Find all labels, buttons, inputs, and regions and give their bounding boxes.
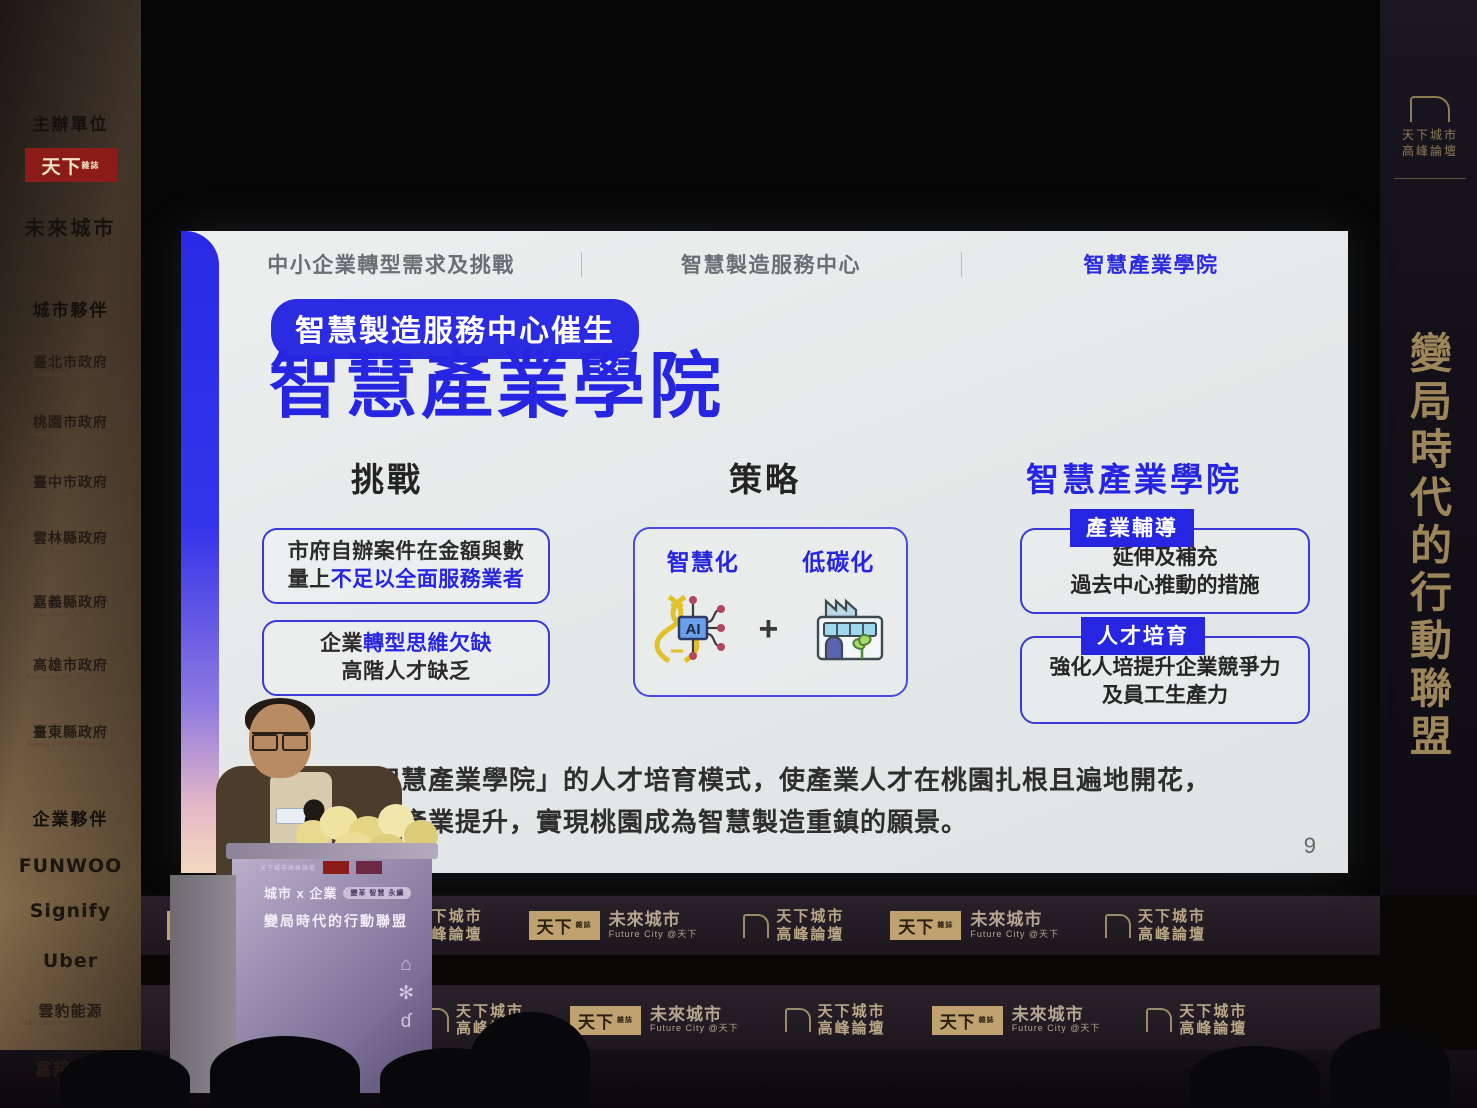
backdrop-forum-unit: 天下城市高峰論壇 <box>1146 1003 1247 1038</box>
city-logo-yunlin: 雲林縣政府 Yunlin County Government <box>0 528 141 554</box>
corporate-partner-heading: 企業夥伴 <box>0 805 141 830</box>
column-header-strategy: 策略 <box>729 453 801 501</box>
slide-summary: 透過「智慧產業學院」的人才培育模式，使產業人才在桃園扎根且遍地開花， 帶動整體產… <box>293 759 1303 843</box>
slide-nav-tab-1[interactable]: 中小企業轉型需求及挑戰 <box>241 249 541 279</box>
podium-strip-text: 天下城市高峰論壇 <box>260 863 316 872</box>
corporate-logo-uber: Uber <box>0 950 141 972</box>
audience-head <box>210 1036 360 1108</box>
challenge-line: 企業 <box>320 632 363 655</box>
slide-nav-tab-3[interactable]: 智慧產業學院 <box>1001 249 1301 279</box>
forum-vertical-slogan: 變局時代的行動聯盟 <box>1402 330 1462 761</box>
strategy-label-lowcarbon: 低碳化 <box>802 543 874 577</box>
future-city-subtitle: Future City @天下 <box>0 236 141 249</box>
column-header-academy: 智慧產業學院 <box>1026 453 1242 501</box>
summary-line-1: 透過「智慧產業學院」的人才培育模式，使產業人才在桃園扎根且遍地開花， <box>293 759 1303 801</box>
academy-line: 延伸及補充 <box>1113 546 1218 569</box>
left-sponsor-banner: 主辦單位 天下雜誌 未來城市 Future City @天下 城市夥伴 臺北市政… <box>0 0 141 1108</box>
audience-head <box>430 1068 500 1108</box>
backdrop-magazine-unit: 天下雜誌 未來城市Future City @天下 <box>529 911 698 940</box>
forum-mark-icon <box>1105 914 1131 938</box>
organizer-heading: 主辦單位 <box>0 110 141 135</box>
challenge-highlight: 不足以全面服務業者 <box>331 568 525 591</box>
forum-mark-icon <box>1146 1008 1172 1032</box>
dna-ai-icon: AI <box>651 589 727 670</box>
forum-logo: 天下城市 高峰論壇 <box>1388 96 1472 159</box>
magazine-logo: 天下雜誌 <box>0 148 141 182</box>
challenge-line: 高階人才缺乏 <box>342 660 471 683</box>
corporate-logo-funwoo: FUNWOO <box>0 855 141 877</box>
podium-top-surface <box>226 843 438 859</box>
city-logo-taoyuan: 桃園市政府 Taoyuan City Government <box>0 412 141 438</box>
forum-mark-icon <box>743 914 769 938</box>
strategy-card: 智慧化 低碳化 AI <box>633 527 908 697</box>
strategy-label-smart: 智慧化 <box>667 543 739 577</box>
corporate-logo-jv-energy: 雲豹能源 J&V ENERGY TECHNOLOGY <box>0 1000 141 1027</box>
city-logo-chiayi: 嘉義縣政府 Chiayi County Government <box>0 592 141 618</box>
slide-nav-tab-2[interactable]: 智慧製造服務中心 <box>621 249 921 279</box>
challenge-card: 企業轉型思維欠缺 高階人才缺乏 <box>262 620 550 696</box>
magazine-logo-icon <box>323 861 349 874</box>
banner-divider <box>1394 178 1466 179</box>
podium-headline-badge: 變革 智慧 永續 <box>343 887 411 899</box>
conference-room: 主辦單位 天下雜誌 未來城市 Future City @天下 城市夥伴 臺北市政… <box>0 0 1477 1108</box>
academy-tag-talent-development: 人才培育 <box>1081 617 1205 655</box>
backdrop-magazine-unit: 天下雜誌 未來城市Future City @天下 <box>570 1006 739 1035</box>
partner-logo-icon <box>356 861 382 874</box>
slide-section-nav: 中小企業轉型需求及挑戰 智慧製造服務中心 智慧產業學院 <box>241 249 1301 279</box>
city-logo-taitung: 臺東縣政府 Taitung County Government <box>0 722 141 748</box>
plus-operator-icon: + <box>759 610 779 649</box>
forum-mark-icon <box>785 1008 811 1032</box>
challenge-highlight: 轉型思維欠缺 <box>363 632 492 655</box>
slide-title: 智慧產業學院 <box>269 349 725 427</box>
audience-head <box>1330 1028 1450 1108</box>
corporate-logo-signify: Signify <box>0 900 141 922</box>
nav-divider <box>581 252 582 277</box>
backdrop-magazine-unit: 天下雜誌 未來城市Future City @天下 <box>890 911 1059 940</box>
podium-top-strip: 天下城市高峰論壇 <box>260 859 420 875</box>
academy-line: 及員工生產力 <box>1102 684 1228 707</box>
green-factory-icon <box>810 591 890 668</box>
podium-decorative-glyphs: ⌂✻ɗ <box>398 951 414 1037</box>
glasses-icon <box>252 732 308 745</box>
city-logo-kaohsiung: 高雄市政府 Kaohsiung City Government <box>0 655 141 681</box>
podium-subheadline: 變局時代的行動聯盟 <box>264 911 408 931</box>
academy-line: 強化人培提升企業競爭力 <box>1050 656 1281 679</box>
nav-divider <box>961 252 962 277</box>
challenge-card: 市府自辦案件在金額與數 量上不足以全面服務業者 <box>262 528 550 604</box>
podium-headline-text: 城市 x 企業 <box>264 883 337 902</box>
city-partner-heading: 城市夥伴 <box>0 296 141 321</box>
academy-tag-industry-guidance: 產業輔導 <box>1070 509 1194 547</box>
slide-page-number: 9 <box>1304 833 1316 859</box>
forum-mark-icon <box>1410 96 1450 122</box>
backdrop-forum-unit: 天下城市高峰論壇 <box>1105 908 1206 943</box>
city-logo-taipei: 臺北市政府 Taipei City Government <box>0 352 141 378</box>
challenge-line: 市府自辦案件在金額與數 <box>288 540 525 563</box>
city-logo-taichung: 臺中市政府 Taichung City Government <box>0 472 141 498</box>
svg-text:AI: AI <box>685 621 700 638</box>
backdrop-magazine-unit: 天下雜誌 未來城市Future City @天下 <box>932 1006 1101 1035</box>
backdrop-forum-unit: 天下城市高峰論壇 <box>785 1003 886 1038</box>
audience-head <box>1190 1046 1320 1108</box>
academy-line: 過去中心推動的措施 <box>1071 574 1260 597</box>
right-forum-banner: 天下城市 高峰論壇 變局時代的行動聯盟 <box>1380 0 1477 895</box>
podium-headline: 城市 x 企業 變革 智慧 永續 <box>264 883 411 902</box>
backdrop-forum-unit: 天下城市高峰論壇 <box>743 908 844 943</box>
challenge-line: 量上 <box>288 568 331 591</box>
column-header-challenge: 挑戰 <box>351 453 423 501</box>
summary-line-2: 帶動整體產業提升，實現桃園成為智慧製造重鎮的願景。 <box>293 801 1303 843</box>
audience-head <box>60 1050 190 1108</box>
